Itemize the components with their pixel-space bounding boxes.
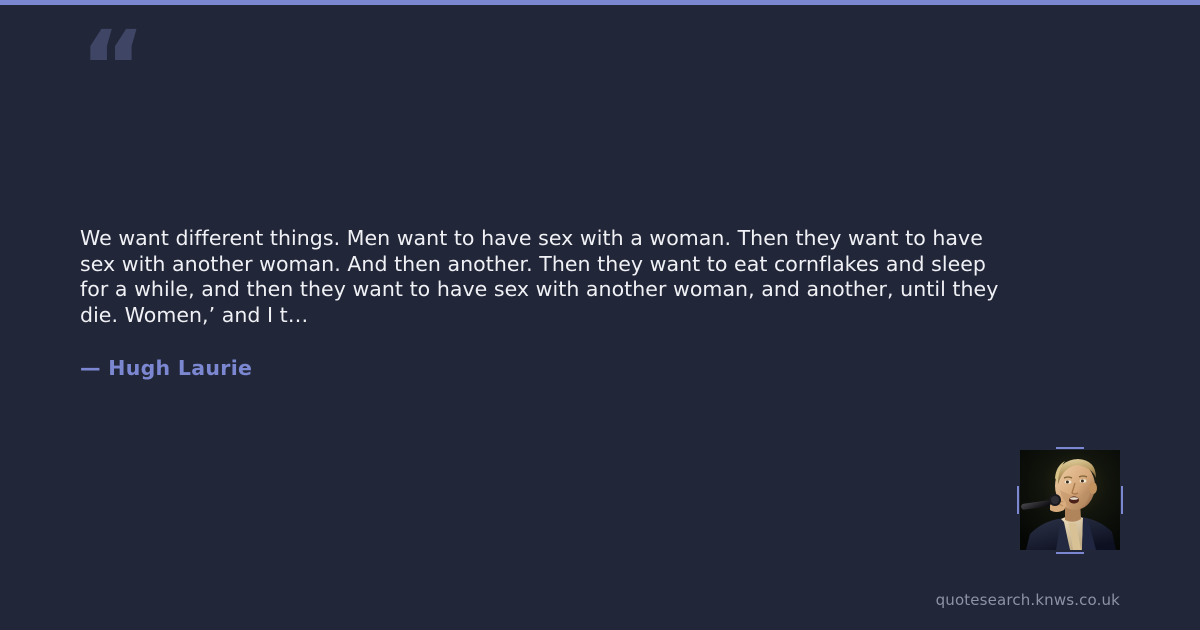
selection-handle-bottom[interactable] xyxy=(1056,552,1084,554)
quote-author: — Hugh Laurie xyxy=(80,355,252,381)
author-portrait-image xyxy=(1020,450,1120,550)
quotation-mark-icon: “ xyxy=(80,18,144,118)
site-url[interactable]: quotesearch.knws.co.uk xyxy=(936,590,1120,610)
top-accent-bar xyxy=(0,0,1200,5)
quote-card: “ We want different things. Men want to … xyxy=(0,0,1200,630)
selection-handle-left[interactable] xyxy=(1017,486,1019,514)
author-thumbnail[interactable] xyxy=(1020,450,1120,550)
selection-handle-top[interactable] xyxy=(1056,447,1084,449)
selection-handle-right[interactable] xyxy=(1121,486,1123,514)
quote-text: We want different things. Men want to ha… xyxy=(80,226,1000,328)
